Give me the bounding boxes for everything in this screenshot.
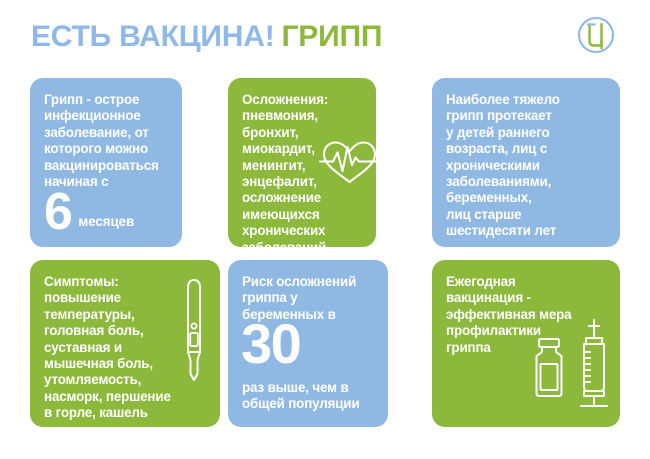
highlight-number-row: 30 — [241, 316, 300, 372]
card-body-text: Осложнения: пневмония, бронхит, миокарди… — [242, 92, 367, 247]
page-title: ЕСТЬ ВАКЦИНА!ГРИПП — [31, 19, 382, 55]
info-card-vaccination-age: Грипп - острое инфекционное заболевание,… — [30, 78, 182, 247]
page-title-accent: ГРИПП — [282, 20, 383, 53]
page-title-primary: ЕСТЬ ВАКЦИНА! — [31, 20, 275, 53]
card-body-text: Грипп - острое инфекционное заболевание,… — [44, 92, 174, 190]
circular-monogram-logo — [576, 15, 616, 55]
card-body-text: Симптомы: повышение температуры, головна… — [44, 274, 208, 422]
card-body-text: Ежегодная вакцинация - эффективная мера … — [446, 274, 618, 356]
highlight-number-unit: месяцев — [78, 214, 134, 229]
highlight-number: 6 — [44, 186, 71, 238]
info-card-risk-groups: Наиболее тяжело грипп протекает у детей … — [432, 78, 620, 247]
info-card-complications: Осложнения: пневмония, бронхит, миокарди… — [228, 78, 376, 247]
info-card-annual-vaccination: Ежегодная вакцинация - эффективная мера … — [432, 260, 620, 427]
card-body-text: Риск осложнений гриппа у беременных в — [242, 274, 382, 323]
info-card-symptoms: Симптомы: повышение температуры, головна… — [30, 260, 220, 427]
info-card-pregnancy-risk: Риск осложнений гриппа у беременных в 30… — [228, 260, 388, 427]
highlight-number-row: 6 месяцев — [44, 186, 134, 238]
page-header: ЕСТЬ ВАКЦИНА!ГРИПП — [0, 0, 650, 72]
card-footer-text: раз выше, чем в общей популяции — [242, 380, 382, 413]
card-body-text: Наиболее тяжело грипп протекает у детей … — [446, 92, 616, 240]
